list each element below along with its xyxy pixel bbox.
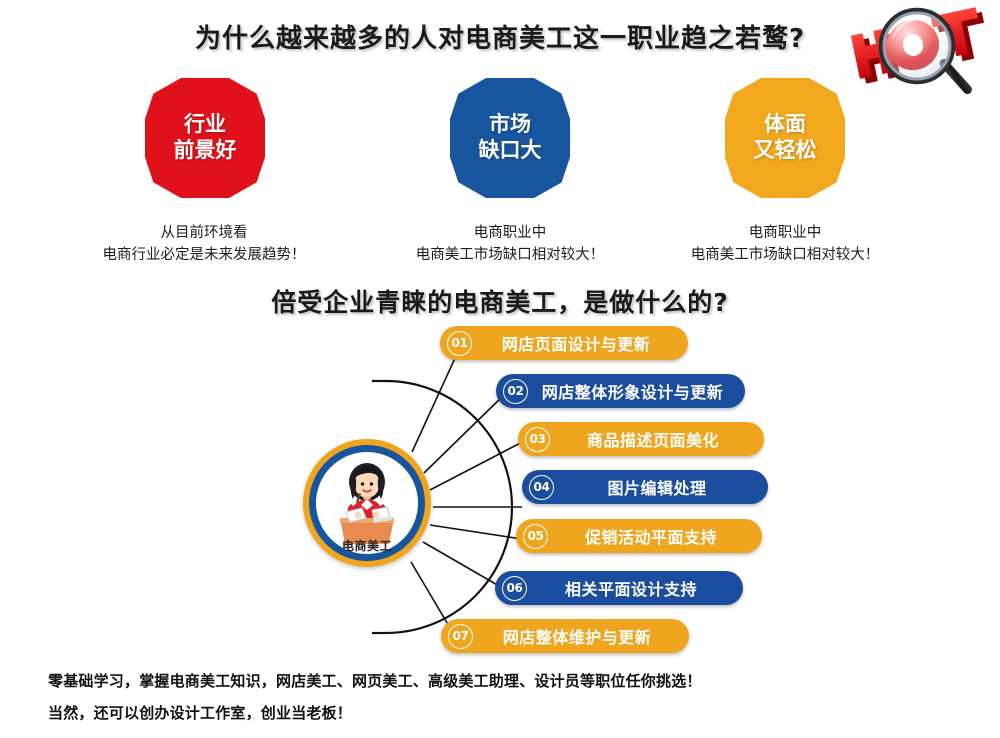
task-pill-06[interactable]: 06 相关平面设计支持 xyxy=(495,571,743,605)
task-pill-04[interactable]: 04 图片编辑处理 xyxy=(522,470,768,504)
polygon-badge-lifestyle: 体面 又轻松 xyxy=(725,78,845,198)
badge-column-3: 体面 又轻松 电商职业中 电商美工市场缺口相对较大！ xyxy=(655,78,915,267)
task-label-07: 网店整体维护与更新 xyxy=(479,624,675,648)
caption-line-1: 从目前环境看 xyxy=(73,222,335,244)
task-label-01: 网店页面设计与更新 xyxy=(478,331,674,355)
badge-caption-1: 从目前环境看 电商行业必定是未来发展趋势！ xyxy=(73,222,335,267)
footer-line-2: 当然，还可以创办设计工作室，创业当老板！ xyxy=(48,702,352,723)
badge-line-1: 行业 xyxy=(184,112,226,138)
badge-line-1: 市场 xyxy=(489,112,531,138)
task-pill-03[interactable]: 03 商品描述页面美化 xyxy=(518,422,764,456)
caption-line-2: 电商行业必定是未来发展趋势！ xyxy=(73,244,335,266)
caption-line-1: 电商职业中 xyxy=(655,222,915,244)
hub-label: 电商美工 xyxy=(303,537,431,554)
task-label-02: 网店整体形象设计与更新 xyxy=(534,379,731,403)
polygon-badge-market: 市场 缺口大 xyxy=(450,78,570,198)
connector-lines xyxy=(0,318,1000,663)
radial-task-diagram: 电商美工 01 网店页面设计与更新 02 网店整体形象设计与更新 03 商品描述… xyxy=(0,318,1000,663)
badge-line-2: 缺口大 xyxy=(479,138,542,164)
badge-line-1: 体面 xyxy=(764,112,806,138)
task-number-05: 05 xyxy=(523,524,548,549)
slide-canvas: 为什么越来越多的人对电商美工这一职业趋之若鹜? xyxy=(0,0,1000,738)
footer-line-1: 零基础学习，掌握电商美工知识，网店美工、网页美工、高级美工助理、设计员等职位任你… xyxy=(48,670,702,691)
task-number-07: 07 xyxy=(448,624,473,649)
badge-line-2: 又轻松 xyxy=(754,138,817,164)
task-number-04: 04 xyxy=(529,475,554,500)
task-label-03: 商品描述页面美化 xyxy=(556,427,750,451)
task-number-03: 03 xyxy=(525,427,550,452)
task-label-06: 相关平面设计支持 xyxy=(533,576,729,600)
caption-line-2: 电商美工市场缺口相对较大！ xyxy=(655,244,915,266)
task-number-02: 02 xyxy=(503,379,528,404)
caption-line-1: 电商职业中 xyxy=(380,222,640,244)
caption-line-2: 电商美工市场缺口相对较大！ xyxy=(380,244,640,266)
hub-circle: 电商美工 xyxy=(303,439,431,567)
task-label-04: 图片编辑处理 xyxy=(560,475,754,499)
task-pill-05[interactable]: 05 促销活动平面支持 xyxy=(516,519,762,553)
polygon-badge-industry: 行业 前景好 xyxy=(145,78,265,198)
badge-column-1: 行业 前景好 从目前环境看 电商行业必定是未来发展趋势！ xyxy=(75,78,335,267)
task-pill-07[interactable]: 07 网店整体维护与更新 xyxy=(441,619,689,653)
task-pill-01[interactable]: 01 网店页面设计与更新 xyxy=(440,326,688,360)
page-title-secondary: 倍受企业青睐的电商美工，是做什么的? xyxy=(0,283,1000,319)
badge-caption-3: 电商职业中 电商美工市场缺口相对较大！ xyxy=(655,222,915,267)
task-pill-02[interactable]: 02 网店整体形象设计与更新 xyxy=(496,374,745,408)
task-number-01: 01 xyxy=(447,331,472,356)
badge-column-2: 市场 缺口大 电商职业中 电商美工市场缺口相对较大！ xyxy=(380,78,640,267)
task-number-06: 06 xyxy=(502,576,527,601)
badge-caption-2: 电商职业中 电商美工市场缺口相对较大！ xyxy=(380,222,640,267)
badge-line-2: 前景好 xyxy=(174,138,237,164)
task-label-05: 促销活动平面支持 xyxy=(554,524,748,548)
